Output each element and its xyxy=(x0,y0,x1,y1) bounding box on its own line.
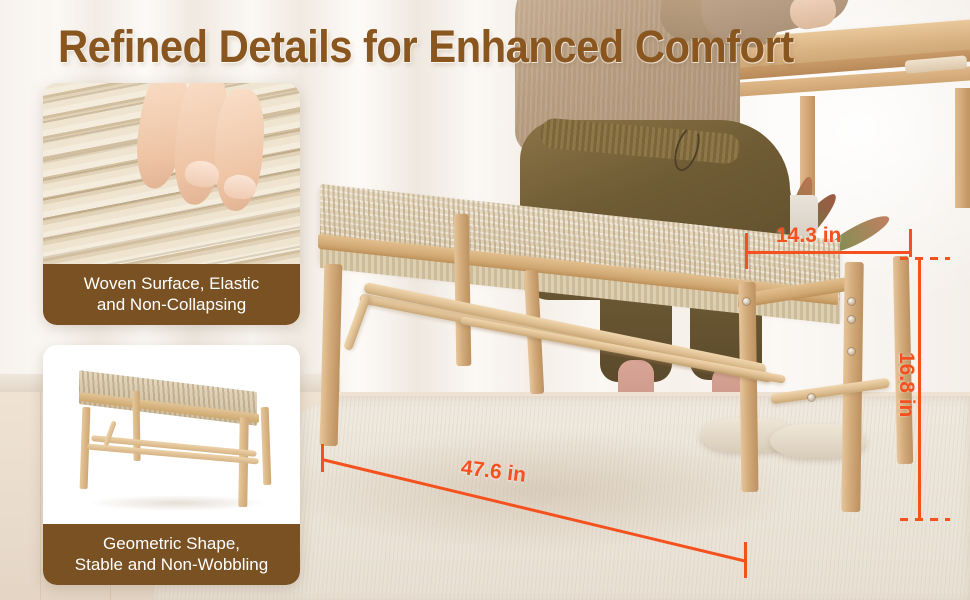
dining-table-leg-far xyxy=(955,88,970,208)
height-dimension-label: 16.8 in xyxy=(894,352,918,417)
bench-leg-front-right xyxy=(739,282,759,492)
depth-dimension-line xyxy=(746,251,912,254)
promo-banner: Refined Details for Enhanced Comfort Wov… xyxy=(0,0,970,600)
height-dimension-line xyxy=(918,258,921,520)
bench-screw xyxy=(743,298,750,305)
height-extension-bottom xyxy=(900,518,950,521)
height-extension-top xyxy=(900,257,950,260)
bench-screw xyxy=(808,394,815,401)
page-title: Refined Details for Enhanced Comfort xyxy=(58,21,794,73)
depth-dimension-label: 14.3 in xyxy=(776,224,841,248)
feature-card-geometric-shape[interactable]: Geometric Shape, Stable and Non-Wobbling xyxy=(43,345,300,585)
bench-stretcher-leg-brace-left xyxy=(343,294,371,352)
feature-card-woven-surface[interactable]: Woven Surface, Elastic and Non-Collapsin… xyxy=(43,83,300,325)
bench-leg-front-left xyxy=(320,264,343,446)
depth-tick-left xyxy=(745,233,748,269)
feature-card-geometric-caption: Geometric Shape, Stable and Non-Wobbling xyxy=(43,524,300,585)
bench-stretcher-rail xyxy=(460,316,786,383)
bench-screw xyxy=(848,316,855,323)
bench-screw xyxy=(848,298,855,305)
length-tick-right xyxy=(744,542,747,578)
length-tick-left xyxy=(321,444,324,472)
depth-tick-right xyxy=(909,229,912,257)
product-bench-shadow xyxy=(88,495,268,511)
bench-stretcher-end xyxy=(770,378,890,405)
feature-card-woven-caption: Woven Surface, Elastic and Non-Collapsin… xyxy=(43,264,300,325)
bench-leg-back-left xyxy=(454,214,472,366)
bench-screw xyxy=(848,348,855,355)
